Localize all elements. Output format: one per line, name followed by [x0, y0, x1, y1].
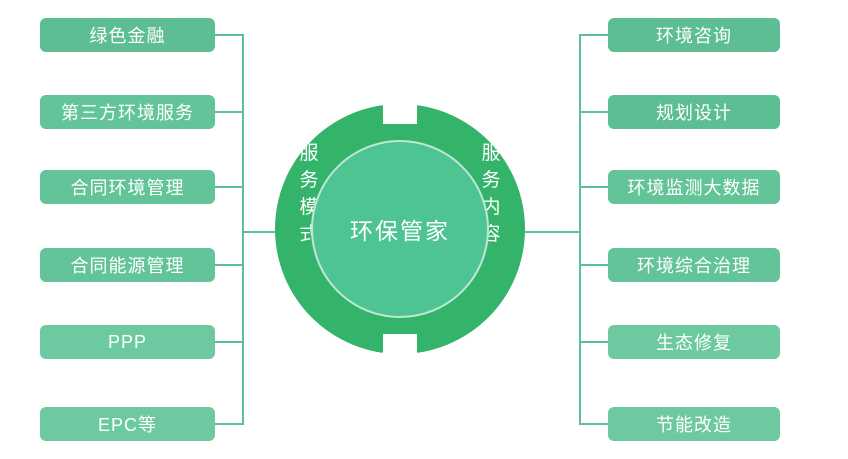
right-item-5-label: 生态修复 — [656, 329, 732, 355]
left-item-2[interactable]: 第三方环境服务 — [40, 95, 215, 129]
center-donut: 服 务 模 式 服 务 内 容 环保管家 — [275, 104, 525, 354]
right-item-4-label: 环境综合治理 — [637, 252, 751, 278]
center-title: 环保管家 — [350, 212, 450, 246]
right-item-6-label: 节能改造 — [656, 411, 732, 437]
diagram-canvas: 绿色金融 第三方环境服务 合同环境管理 合同能源管理 PPP EPC等 环境咨询… — [0, 0, 848, 459]
left-item-2-label: 第三方环境服务 — [61, 99, 194, 125]
left-item-1[interactable]: 绿色金融 — [40, 18, 215, 52]
right-item-1-label: 环境咨询 — [656, 22, 732, 48]
left-item-4-label: 合同能源管理 — [71, 252, 185, 278]
left-item-5-label: PPP — [108, 332, 147, 353]
right-item-1[interactable]: 环境咨询 — [608, 18, 780, 52]
donut-gap-bottom — [383, 334, 417, 358]
right-item-5[interactable]: 生态修复 — [608, 325, 780, 359]
center-core: 环保管家 — [311, 140, 489, 318]
left-item-6[interactable]: EPC等 — [40, 407, 215, 441]
left-item-3-label: 合同环境管理 — [71, 174, 185, 200]
right-item-4[interactable]: 环境综合治理 — [608, 248, 780, 282]
service-mode-char-1: 服 — [296, 140, 322, 167]
service-content-char-2: 务 — [478, 167, 504, 194]
right-item-6[interactable]: 节能改造 — [608, 407, 780, 441]
left-item-6-label: EPC等 — [98, 411, 157, 437]
right-item-2[interactable]: 规划设计 — [608, 95, 780, 129]
left-item-3[interactable]: 合同环境管理 — [40, 170, 215, 204]
left-item-5[interactable]: PPP — [40, 325, 215, 359]
service-mode-char-2: 务 — [296, 167, 322, 194]
right-item-3-label: 环境监测大数据 — [628, 174, 761, 200]
right-item-3[interactable]: 环境监测大数据 — [608, 170, 780, 204]
donut-gap-top — [383, 100, 417, 124]
left-item-1-label: 绿色金融 — [90, 22, 166, 48]
service-content-char-1: 服 — [478, 140, 504, 167]
left-item-4[interactable]: 合同能源管理 — [40, 248, 215, 282]
right-item-2-label: 规划设计 — [656, 99, 732, 125]
